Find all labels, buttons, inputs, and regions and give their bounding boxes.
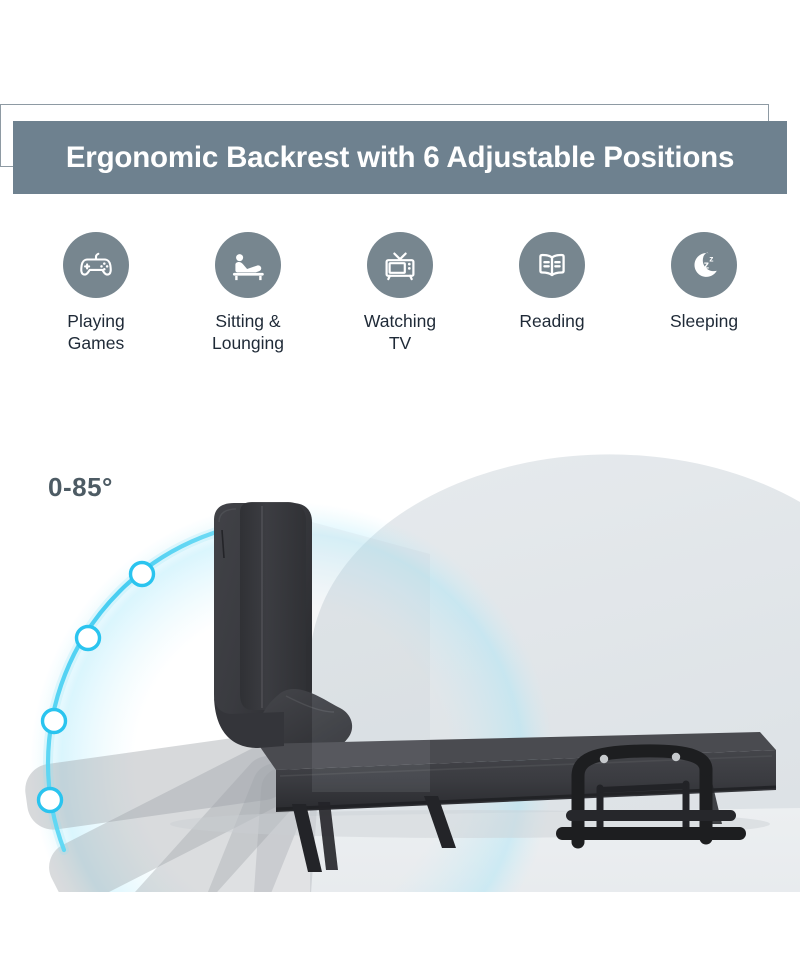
feature-item-reading: Reading [476, 232, 628, 332]
feature-label: Playing Games [67, 310, 124, 354]
angle-range-label: 0-85° [48, 472, 113, 503]
feature-label: Sleeping [670, 310, 738, 332]
svg-text:z: z [709, 254, 713, 264]
page-title: Ergonomic Backrest with 6 Adjustable Pos… [66, 141, 734, 175]
feature-label: Watching TV [364, 310, 436, 354]
feature-label: Reading [519, 310, 584, 332]
product-hero-image [0, 372, 800, 892]
infographic-page: Ergonomic Backrest with 6 Adjustable Pos… [0, 0, 800, 977]
television-icon [367, 232, 433, 298]
lounge-chair-icon [215, 232, 281, 298]
feature-label: Sitting & Lounging [212, 310, 284, 354]
banner-fill: Ergonomic Backrest with 6 Adjustable Pos… [13, 121, 787, 194]
feature-item-playing-games: Playing Games [20, 232, 172, 354]
open-book-icon [519, 232, 585, 298]
feature-item-sleeping: z z Sleeping [628, 232, 780, 332]
gamepad-icon [63, 232, 129, 298]
moon-zzz-icon: z z [671, 232, 737, 298]
feature-item-sitting-lounging: Sitting & Lounging [172, 232, 324, 354]
feature-list: Playing Games Sitting & Lounging [0, 232, 800, 372]
header-banner: Ergonomic Backrest with 6 Adjustable Pos… [0, 104, 800, 214]
feature-item-watching-tv: Watching TV [324, 232, 476, 354]
